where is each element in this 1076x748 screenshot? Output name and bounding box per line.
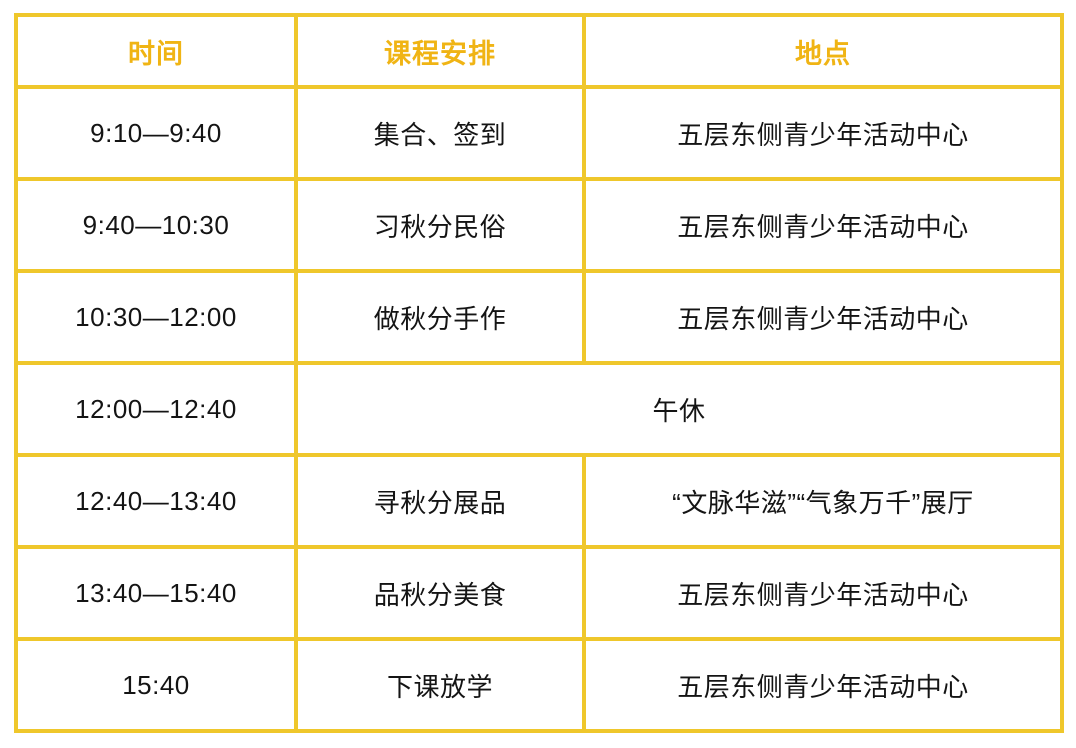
cell-place: 五层东侧青少年活动中心: [584, 87, 1062, 179]
cell-course: 寻秋分展品: [296, 455, 584, 547]
cell-place: 五层东侧青少年活动中心: [584, 547, 1062, 639]
table-row: 13:40—15:40 品秋分美食 五层东侧青少年活动中心: [16, 547, 1062, 639]
table-row: 9:40—10:30 习秋分民俗 五层东侧青少年活动中心: [16, 179, 1062, 271]
schedule-table: 时间 课程安排 地点 9:10—9:40 集合、签到 五层东侧青少年活动中心 9…: [14, 13, 1064, 733]
table-row: 10:30—12:00 做秋分手作 五层东侧青少年活动中心: [16, 271, 1062, 363]
cell-merged-span: 午休: [296, 363, 1062, 455]
cell-time: 10:30—12:00: [16, 271, 296, 363]
column-header-course: 课程安排: [296, 15, 584, 87]
cell-course: 集合、签到: [296, 87, 584, 179]
column-header-place: 地点: [584, 15, 1062, 87]
table-row: 12:40—13:40 寻秋分展品 “文脉华滋”“气象万千”展厅: [16, 455, 1062, 547]
column-header-time: 时间: [16, 15, 296, 87]
cell-place: “文脉华滋”“气象万千”展厅: [584, 455, 1062, 547]
table-header-row: 时间 课程安排 地点: [16, 15, 1062, 87]
cell-time: 12:40—13:40: [16, 455, 296, 547]
cell-place: 五层东侧青少年活动中心: [584, 179, 1062, 271]
cell-time: 9:10—9:40: [16, 87, 296, 179]
table-row: 9:10—9:40 集合、签到 五层东侧青少年活动中心: [16, 87, 1062, 179]
table-row-lunch-break: 12:00—12:40 午休: [16, 363, 1062, 455]
table-row: 15:40 下课放学 五层东侧青少年活动中心: [16, 639, 1062, 731]
cell-course: 做秋分手作: [296, 271, 584, 363]
cell-time: 13:40—15:40: [16, 547, 296, 639]
cell-place: 五层东侧青少年活动中心: [584, 271, 1062, 363]
cell-course: 下课放学: [296, 639, 584, 731]
cell-course: 品秋分美食: [296, 547, 584, 639]
cell-course: 习秋分民俗: [296, 179, 584, 271]
schedule-document: 时间 课程安排 地点 9:10—9:40 集合、签到 五层东侧青少年活动中心 9…: [0, 0, 1076, 748]
cell-time: 12:00—12:40: [16, 363, 296, 455]
table-body: 9:10—9:40 集合、签到 五层东侧青少年活动中心 9:40—10:30 习…: [16, 87, 1062, 731]
cell-time: 15:40: [16, 639, 296, 731]
cell-place: 五层东侧青少年活动中心: [584, 639, 1062, 731]
cell-time: 9:40—10:30: [16, 179, 296, 271]
table-header: 时间 课程安排 地点: [16, 15, 1062, 87]
